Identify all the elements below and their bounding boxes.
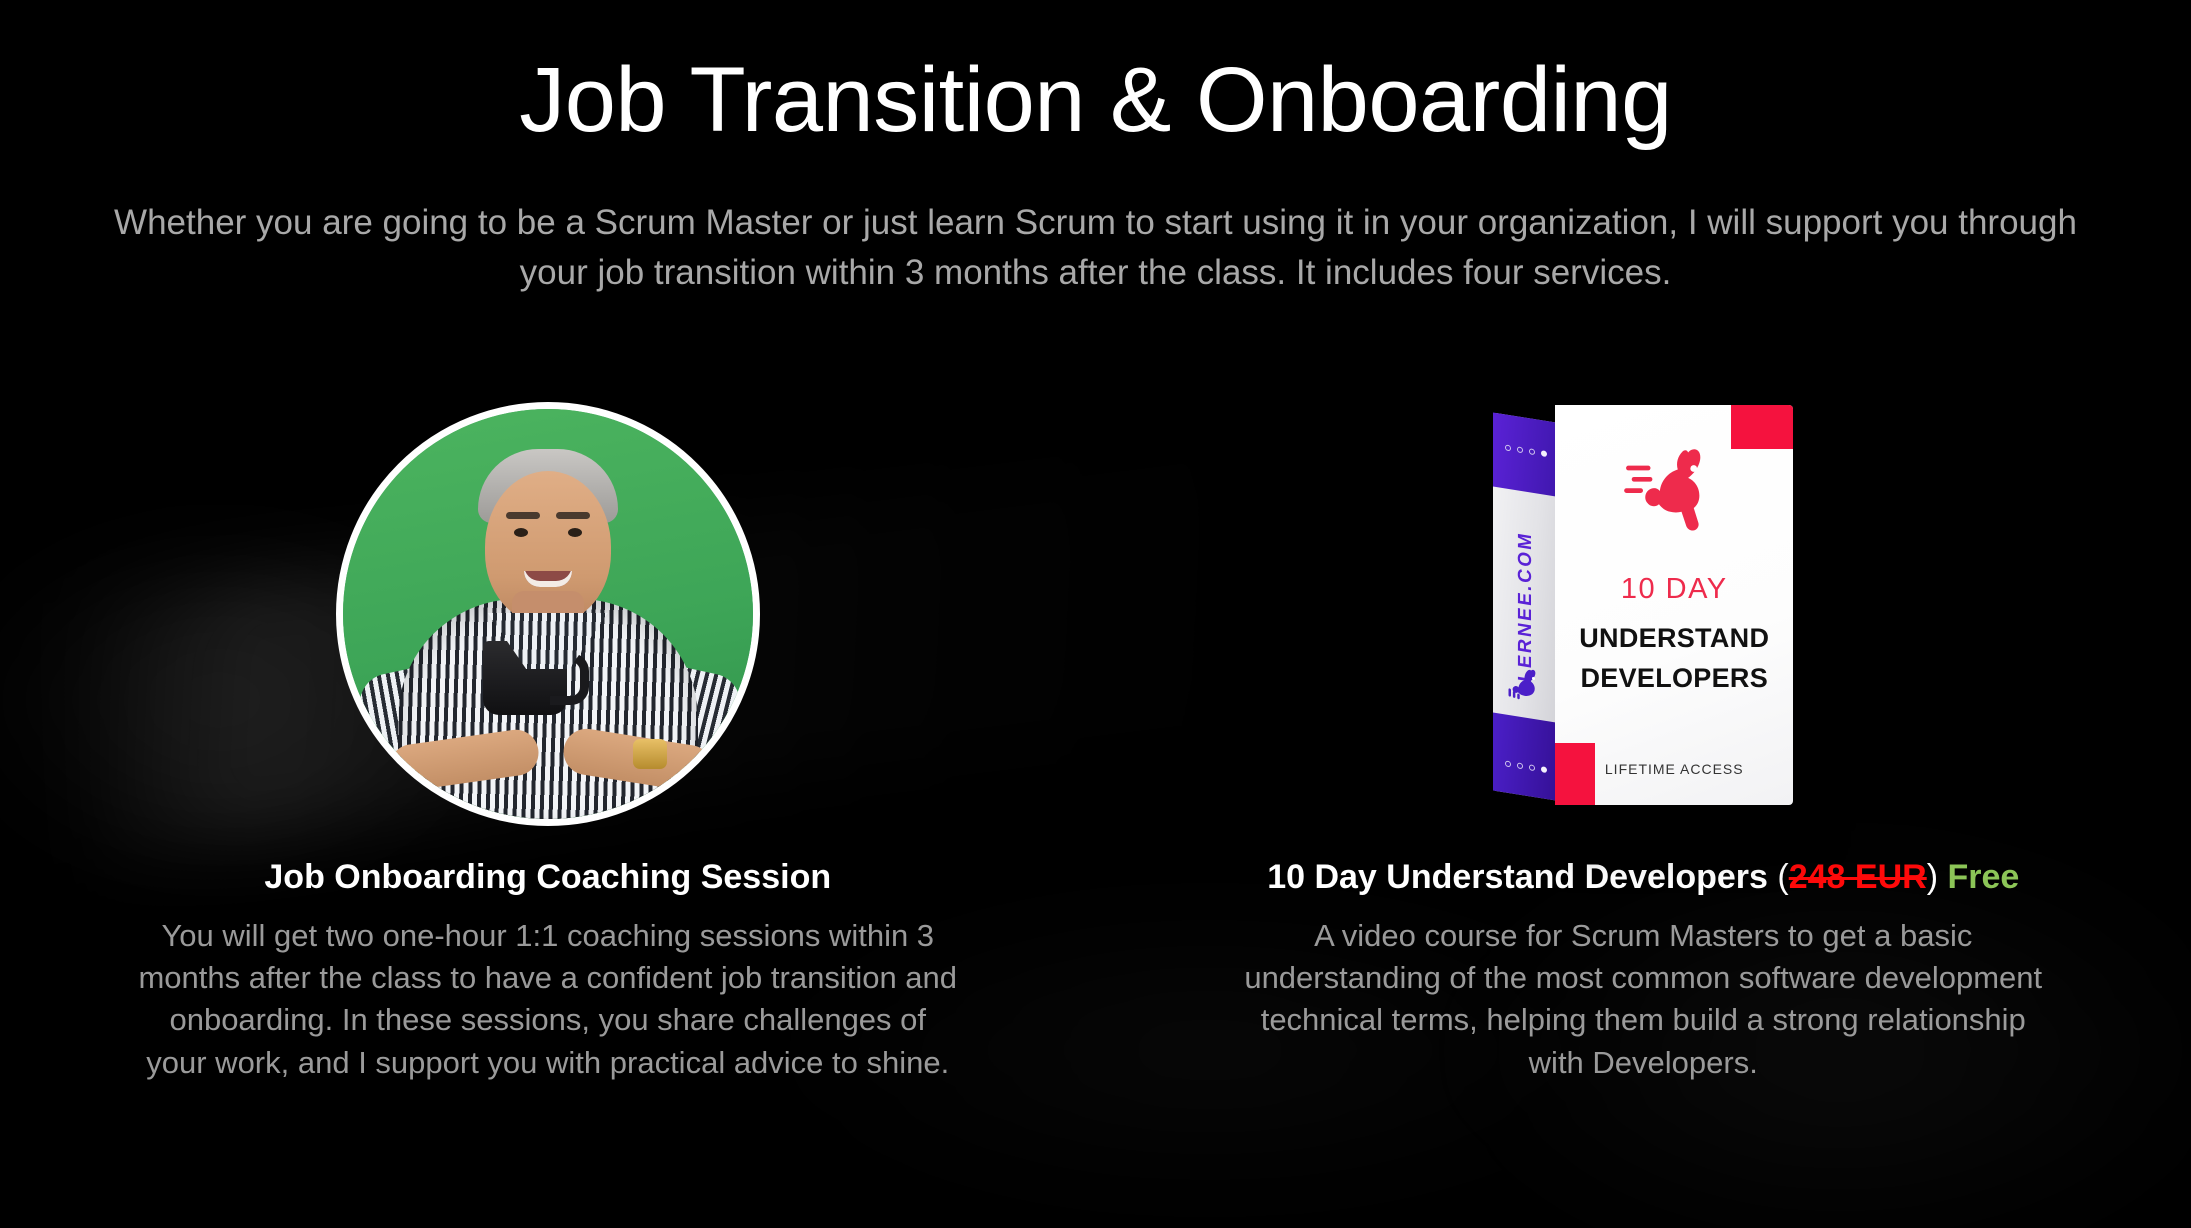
- box-footer-text: LIFETIME ACCESS: [1555, 761, 1793, 777]
- price-free-badge: Free: [1947, 858, 2019, 896]
- spine-dot: [1517, 762, 1523, 769]
- spine-top-band: [1493, 413, 1559, 497]
- service-cards-row: Job Onboarding Coaching Session You will…: [0, 350, 2191, 1084]
- card-title-coaching: Job Onboarding Coaching Session: [0, 856, 1096, 899]
- eyebrow-left: [506, 512, 540, 519]
- spine-dots-top: [1505, 444, 1547, 457]
- spine-dot: [1541, 450, 1547, 457]
- red-corner-block-top: [1731, 405, 1793, 449]
- spine-dots-bottom: [1505, 760, 1547, 773]
- paren-open: (: [1777, 858, 1788, 896]
- spine-dot: [1505, 760, 1511, 767]
- page-subtitle: Whether you are going to be a Scrum Mast…: [91, 198, 2101, 297]
- eyebrow-right: [556, 512, 590, 519]
- card-body-understand-developers: A video course for Scrum Masters to get …: [1243, 915, 2043, 1085]
- paren-close: ): [1927, 858, 1938, 896]
- card-understand-developers: LERNEE.COM: [1096, 350, 2191, 1084]
- page-root: Job Transition & Onboarding Whether you …: [0, 0, 2191, 1228]
- spine-dot: [1529, 448, 1535, 455]
- card-title-understand-developers: 10 Day Understand Developers (248 EUR) F…: [1096, 856, 2191, 899]
- product-box-front: 10 DAY UNDERSTAND DEVELOPERS LIFETIME AC…: [1555, 405, 1793, 805]
- spine-dot: [1505, 444, 1511, 451]
- spine-rabbit-icon: [1506, 663, 1546, 707]
- box-title-line-1: UNDERSTAND: [1555, 623, 1793, 654]
- spine-dot: [1529, 764, 1535, 771]
- spine-dot: [1541, 766, 1547, 773]
- eye-right: [568, 528, 582, 537]
- spine-brand-text: LERNEE.COM: [1515, 530, 1537, 684]
- running-rabbit-icon: [1622, 445, 1726, 539]
- card-body-coaching: You will get two one-hour 1:1 coaching s…: [138, 915, 958, 1085]
- wristwatch-icon: [633, 739, 667, 769]
- spine-dot: [1517, 446, 1523, 453]
- price-original: 248 EUR: [1789, 858, 1927, 896]
- box-title-line-2: DEVELOPERS: [1555, 663, 1793, 694]
- product-box-image: LERNEE.COM: [1493, 405, 1793, 805]
- eye-left: [514, 528, 528, 537]
- card-media-portrait: [0, 350, 1096, 850]
- product-box-spine: LERNEE.COM: [1493, 413, 1559, 801]
- card-job-onboarding-coaching: Job Onboarding Coaching Session You will…: [0, 350, 1096, 1084]
- page-title: Job Transition & Onboarding: [0, 52, 2191, 150]
- spine-bottom-band: [1493, 713, 1559, 801]
- card-media-product-box: LERNEE.COM: [1096, 350, 2191, 850]
- card-title-main-text: 10 Day Understand Developers: [1267, 858, 1768, 896]
- instructor-portrait-photo: [336, 402, 760, 826]
- box-eyebrow-text: 10 DAY: [1555, 573, 1793, 606]
